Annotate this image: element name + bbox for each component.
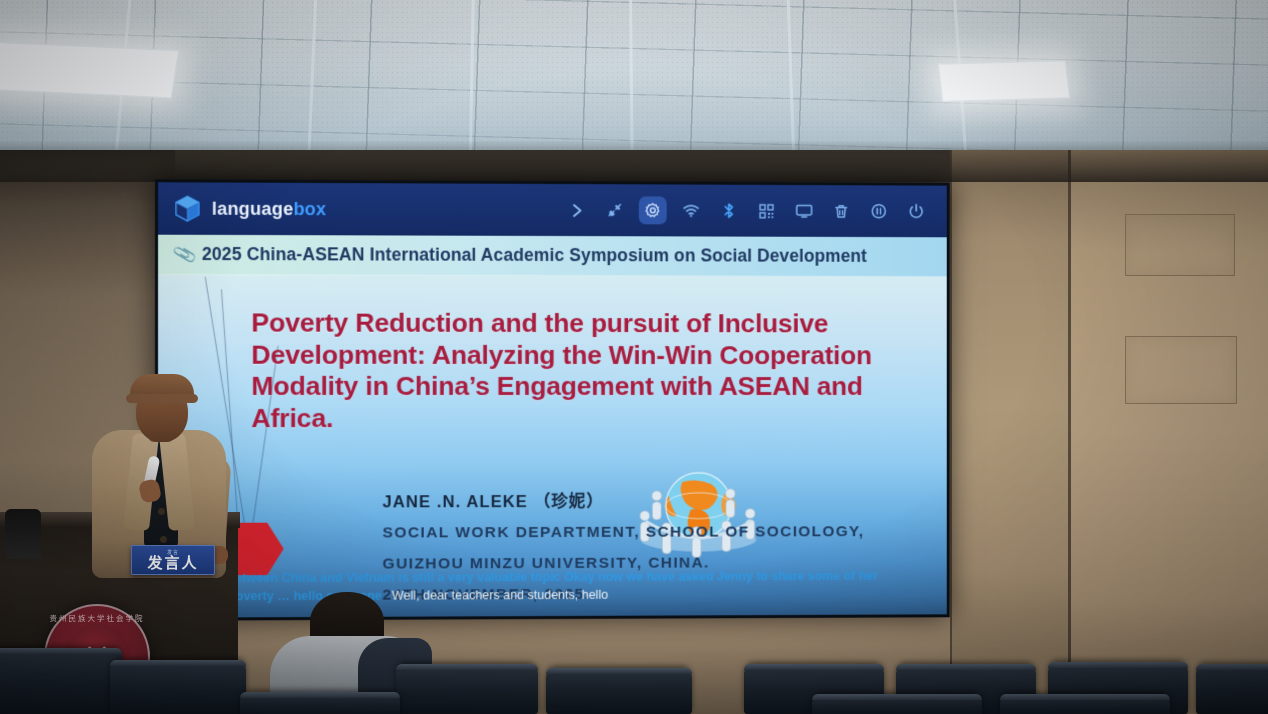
seat-rim	[1000, 694, 1170, 700]
qr-code-icon[interactable]	[755, 200, 777, 222]
plug-disconnected-icon[interactable]	[604, 199, 626, 221]
seat	[396, 664, 538, 714]
seat-rim	[0, 648, 122, 654]
seat-rim	[110, 660, 246, 666]
seat	[1196, 664, 1268, 714]
logo-word-language: language	[212, 198, 294, 218]
monitor-icon[interactable]	[793, 200, 815, 222]
pause-icon[interactable]	[868, 200, 890, 222]
seat	[546, 668, 692, 714]
ceiling-light-panel	[0, 42, 179, 99]
seat-rim	[546, 668, 692, 674]
right-wall-panel	[950, 150, 1068, 714]
seat-front-row	[812, 694, 982, 714]
wall-panel-inset	[1125, 214, 1235, 276]
seat-rim	[896, 664, 1036, 670]
trash-icon[interactable]	[830, 200, 852, 222]
cube-icon	[172, 193, 202, 223]
seat-front-row	[1000, 694, 1170, 714]
app-toolbar: languagebox	[158, 182, 947, 237]
speaker-hat-brim	[126, 394, 198, 403]
projection-screen: languagebox	[155, 179, 950, 621]
event-title: 2025 China-ASEAN International Academic …	[202, 244, 867, 267]
right-wall-door	[1068, 150, 1268, 714]
caption-line-1: y between China and Vietnam is still a v…	[217, 569, 939, 586]
presentation-slide: 📎 2025 China-ASEAN International Academi…	[158, 235, 947, 618]
app-logo: languagebox	[172, 193, 326, 224]
seat-rim	[744, 664, 884, 670]
presenter-name: JANE .N. ALEKE （珍妮）	[382, 487, 939, 512]
toolbar-icon-group	[566, 199, 933, 222]
ceiling-light-panel	[938, 60, 1070, 102]
wifi-icon[interactable]	[680, 199, 702, 221]
gear-icon[interactable]	[642, 199, 664, 221]
microphone-base	[5, 509, 41, 559]
seat-rim	[1048, 662, 1188, 668]
seat	[110, 660, 246, 714]
chevron-right-icon[interactable]	[566, 199, 588, 221]
slide-header-bar: 📎 2025 China-ASEAN International Academi…	[158, 235, 947, 277]
presenter-department: SOCIAL WORK DEPARTMENT, SCHOOL OF SOCIOL…	[382, 523, 939, 542]
power-icon[interactable]	[905, 200, 927, 222]
seat-rim	[396, 664, 538, 670]
seat	[0, 648, 122, 714]
seat-front-row	[240, 692, 400, 714]
seat-rim	[812, 694, 982, 700]
nameplate-text: 发言人	[147, 556, 198, 571]
seat-rim	[1196, 664, 1268, 670]
emblem-top-text: 贵州民族大学社会学院	[46, 613, 148, 624]
logo-word-box: box	[293, 198, 326, 218]
paperclip-icon: 📎	[172, 242, 199, 268]
lecture-hall-scene: languagebox	[0, 0, 1268, 714]
wall-panel-inset	[1125, 336, 1237, 404]
slide-title: Poverty Reduction and the pursuit of Inc…	[251, 307, 918, 434]
caption-blue-text: y between China and Vietnam is still a v…	[217, 569, 878, 585]
seat-rim	[240, 692, 400, 698]
ceiling-shadow	[0, 140, 1268, 182]
coat-button	[158, 508, 165, 515]
podium-nameplate: 发言 发言人	[131, 545, 215, 575]
app-logo-text: languagebox	[212, 198, 326, 220]
coat-button	[160, 536, 167, 543]
bluetooth-icon[interactable]	[717, 200, 739, 222]
